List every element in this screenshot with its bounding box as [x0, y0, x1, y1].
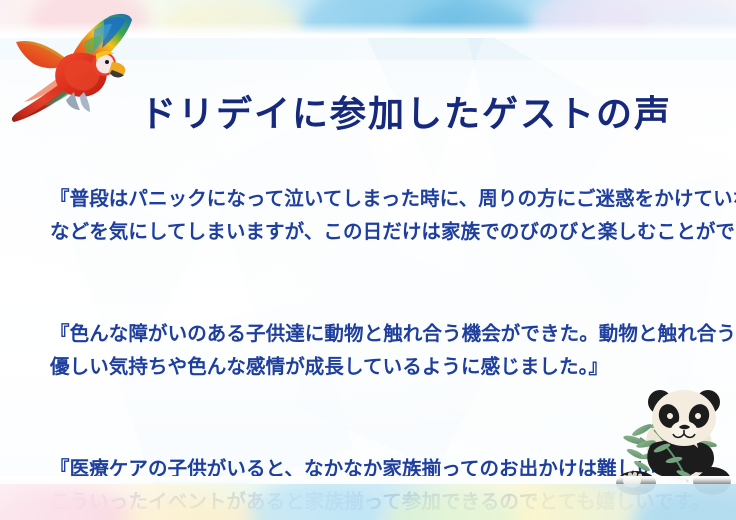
- quote-line: 優しい気持ちや色んな感情が成長しているように感じました。』: [50, 351, 690, 384]
- page-title: ドリデイに参加したゲストの声: [140, 92, 672, 136]
- parrot-icon: [8, 8, 136, 132]
- quote-spacer: [10, 268, 730, 298]
- guest-quote-1: 『普段はパニックになって泣いてしまった時に、周りの方にご迷惑をかけていないか、 …: [50, 183, 690, 249]
- bottom-band-sweep: [0, 484, 736, 520]
- quote-line: などを気にしてしまいますが、この日だけは家族でのびのびと楽しむことができます。』: [50, 216, 690, 249]
- slide-canvas: ドリデイに参加したゲストの声 『普段はパニックになって泣いてしまった時に、周りの…: [0, 0, 736, 520]
- quote-line: 『色んな障がいのある子供達に動物と触れ合う機会ができた。動物と触れ合うことで、: [50, 318, 690, 351]
- quote-line: 『普段はパニックになって泣いてしまった時に、周りの方にご迷惑をかけていないか、: [50, 183, 690, 216]
- guest-quote-2: 『色んな障がいのある子供達に動物と触れ合う機会ができた。動物と触れ合うことで、 …: [50, 318, 690, 384]
